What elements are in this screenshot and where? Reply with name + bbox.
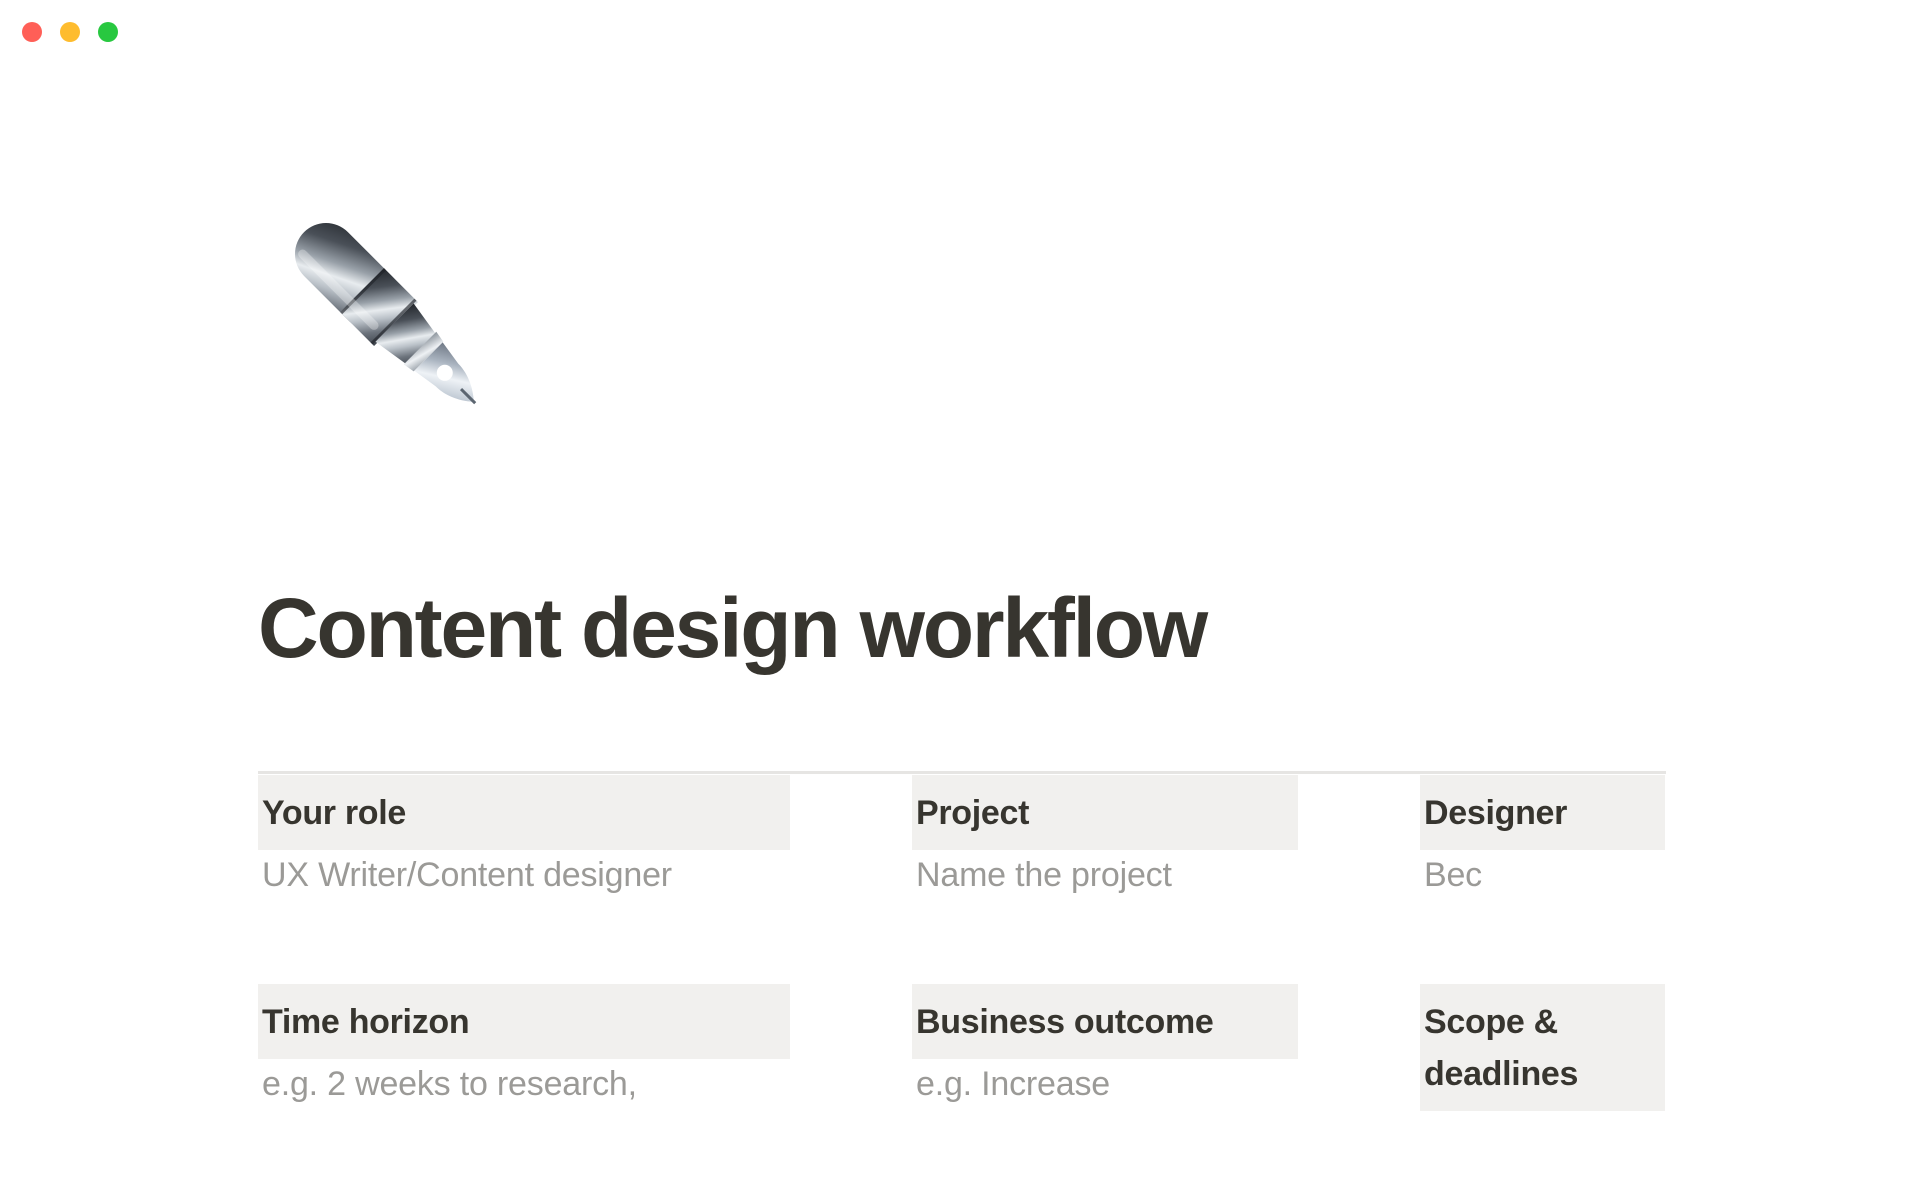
cell-header-your-role[interactable]: Your role <box>258 775 790 850</box>
cell-header-label: Project <box>912 787 1298 839</box>
cell-header-label: Time horizon <box>258 996 790 1048</box>
cell-header-label: Scope & deadlines <box>1420 996 1665 1100</box>
document-canvas: Content design workflow Your role UX Wri… <box>0 62 1920 1200</box>
cell-header-label: Your role <box>258 787 790 839</box>
cell-header-project[interactable]: Project <box>912 775 1298 850</box>
app-window: Content design workflow Your role UX Wri… <box>0 0 1920 1200</box>
cell-body-your-role[interactable]: UX Writer/Content designer <box>258 852 790 898</box>
cell-header-designer[interactable]: Designer <box>1420 775 1665 850</box>
cell-body-business-outcome[interactable]: e.g. Increase <box>912 1061 1298 1107</box>
close-window-button[interactable] <box>22 22 42 42</box>
window-traffic-lights <box>22 22 118 42</box>
cell-header-label: Business outcome <box>912 996 1298 1048</box>
cell-header-label: Designer <box>1420 787 1665 839</box>
maximize-window-button[interactable] <box>98 22 118 42</box>
info-grid: Your role UX Writer/Content designer Pro… <box>0 62 1920 1200</box>
cell-header-time-horizon[interactable]: Time horizon <box>258 984 790 1059</box>
cell-body-time-horizon[interactable]: e.g. 2 weeks to research, <box>258 1061 790 1107</box>
cell-header-scope-deadlines[interactable]: Scope & deadlines <box>1420 984 1665 1111</box>
cell-body-project[interactable]: Name the project <box>912 852 1298 898</box>
cell-body-designer[interactable]: Bec <box>1420 852 1665 898</box>
minimize-window-button[interactable] <box>60 22 80 42</box>
cell-header-business-outcome[interactable]: Business outcome <box>912 984 1298 1059</box>
window-titlebar <box>0 0 1920 62</box>
